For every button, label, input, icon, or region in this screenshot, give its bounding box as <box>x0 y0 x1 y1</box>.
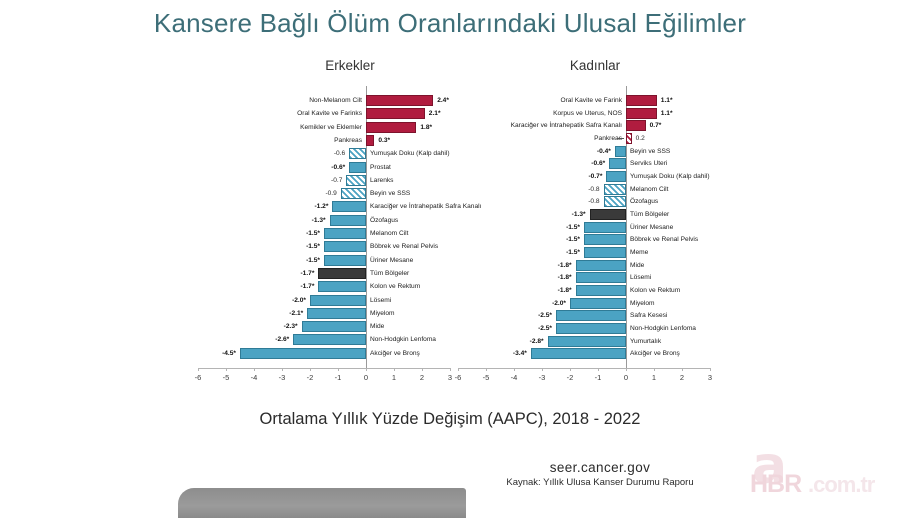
panel-header-women: Kadınlar <box>520 58 670 73</box>
bar-men-4[interactable] <box>349 148 366 159</box>
bar-row: Böbrek ve Renal Pelvis-1.5* <box>198 240 450 253</box>
bar-row: Safra Kesesi-2.5* <box>458 309 710 322</box>
bar-value-label: 0.7* <box>650 119 662 132</box>
bar-row: Akciğer ve Bronş-4.5* <box>198 347 450 360</box>
bar-row: Non-Hodgkin Lenfoma-2.6* <box>198 333 450 346</box>
x-tick-label: 2 <box>420 373 424 382</box>
bar-row: Miyelom-2.0* <box>458 297 710 310</box>
bar-value-label: -0.6* <box>591 157 605 170</box>
bar-row: Beyin ve SSS-0.9 <box>198 187 450 200</box>
panel-header-men: Erkekler <box>275 58 425 73</box>
bar-category-label: Karaciğer ve İntrahepatik Safra Kanalı <box>511 119 622 132</box>
bar-value-label: -0.6 <box>334 147 345 160</box>
bar-women-0[interactable] <box>626 95 657 106</box>
bar-women-6[interactable] <box>606 171 626 182</box>
x-tick <box>450 368 451 371</box>
bar-row: Karaciğer ve İntrahepatik Safra Kanalı0.… <box>458 119 710 132</box>
bar-category-label: Pankreas <box>334 134 362 147</box>
x-tick-label: 1 <box>392 373 396 382</box>
bar-value-label: -2.0* <box>552 297 566 310</box>
bar-value-label: -2.3* <box>284 320 298 333</box>
bar-value-label: -1.5* <box>306 254 320 267</box>
bar-category-label: Özofagus <box>630 195 658 208</box>
bar-value-label: -1.3* <box>572 208 586 221</box>
watermark-logo: a HBR .com.tr <box>748 444 898 502</box>
x-tick-label: 3 <box>448 373 452 382</box>
bar-value-label: 0.2 <box>636 132 645 145</box>
x-tick <box>226 368 227 371</box>
bar-row: Tüm Bölgeler-1.7* <box>198 267 450 280</box>
bar-row: Serviks Uteri-0.6* <box>458 157 710 170</box>
x-tick <box>682 368 683 371</box>
bar-women-12[interactable] <box>584 247 626 258</box>
bar-row: Yumurtalık-2.8* <box>458 335 710 348</box>
bar-value-label: -2.5* <box>538 322 552 335</box>
bar-category-label: Prostat <box>370 161 391 174</box>
bar-women-3[interactable] <box>626 133 632 144</box>
bar-value-label: -3.4* <box>513 347 527 360</box>
bar-category-label: Beyin ve SSS <box>630 145 670 158</box>
bar-row: Prostat-0.6* <box>198 161 450 174</box>
x-tick-label: -3 <box>279 373 286 382</box>
chart-panel-men: Non-Melanom Cilt2.4*Oral Kavite ve Farin… <box>198 86 450 382</box>
bar-row: Karaciğer ve İntrahepatik Safra Kanalı-1… <box>198 200 450 213</box>
bar-men-11[interactable] <box>324 241 366 252</box>
bar-men-15[interactable] <box>310 295 366 306</box>
x-tick <box>654 368 655 371</box>
bar-row: Pankreas0.2 <box>458 132 710 145</box>
bar-row: Melanom Cilt-1.5* <box>198 227 450 240</box>
bar-row: Meme-1.5* <box>458 246 710 259</box>
bar-category-label: Oral Kavite ve Farink <box>560 94 622 107</box>
bar-women-20[interactable] <box>531 348 626 359</box>
bar-men-2[interactable] <box>366 122 416 133</box>
bar-women-5[interactable] <box>609 158 626 169</box>
x-tick-label: -5 <box>223 373 230 382</box>
bar-men-3[interactable] <box>366 135 374 146</box>
bar-category-label: Üriner Mesane <box>370 254 413 267</box>
bar-row: Oral Kavite ve Farink1.1* <box>458 94 710 107</box>
bar-category-label: Böbrek ve Renal Pelvis <box>370 240 438 253</box>
x-tick <box>710 368 711 371</box>
page-title: Kansere Bağlı Ölüm Oranlarındaki Ulusal … <box>0 8 900 39</box>
bar-women-14[interactable] <box>576 272 626 283</box>
bar-row: Üriner Mesane-1.5* <box>198 254 450 267</box>
bar-value-label: -1.8* <box>558 271 572 284</box>
axis-title: Ortalama Yıllık Yüzde Değişim (AAPC), 20… <box>0 410 900 429</box>
bar-category-label: Yumuşak Doku (Kalp dahil) <box>370 147 450 160</box>
bar-row: Özofagus-0.8 <box>458 195 710 208</box>
x-tick <box>282 368 283 371</box>
bar-row: Korpus ve Uterus, NOS1.1* <box>458 107 710 120</box>
bar-women-7[interactable] <box>604 184 626 195</box>
x-tick-label: -1 <box>595 373 602 382</box>
bar-value-label: -0.6* <box>331 161 345 174</box>
slide-canvas: Kansere Bağlı Ölüm Oranlarındaki Ulusal … <box>0 0 900 506</box>
bar-value-label: -2.1* <box>289 307 303 320</box>
bar-row: Yumuşak Doku (Kalp dahil)-0.7* <box>458 170 710 183</box>
bar-row: Non-Hodgkin Lenfoma-2.5* <box>458 322 710 335</box>
bar-value-label: -0.7* <box>588 170 602 183</box>
bar-row: Mide-2.3* <box>198 320 450 333</box>
source-credit: Kaynak: Yıllık Ulusa Kanser Durumu Rapor… <box>430 477 770 488</box>
bar-category-label: Akciğer ve Bronş <box>630 347 680 360</box>
bar-category-label: Akciğer ve Bronş <box>370 347 420 360</box>
x-tick-label: -5 <box>483 373 490 382</box>
source-site: seer.cancer.gov <box>430 460 770 475</box>
bar-row: Oral Kavite ve Farinks2.1* <box>198 107 450 120</box>
bar-category-label: Lösemi <box>370 294 391 307</box>
bar-category-label: Tüm Bölgeler <box>630 208 669 221</box>
bar-category-label: Serviks Uteri <box>630 157 667 170</box>
bar-value-label: -2.8* <box>530 335 544 348</box>
bar-men-7[interactable] <box>341 188 366 199</box>
bar-men-8[interactable] <box>332 201 366 212</box>
bar-value-label: -1.7* <box>300 267 314 280</box>
bar-category-label: Melanom Cilt <box>630 183 668 196</box>
x-tick <box>310 368 311 371</box>
bar-value-label: -4.5* <box>222 347 236 360</box>
x-tick <box>198 368 199 371</box>
bar-category-label: Mide <box>370 320 384 333</box>
bar-value-label: 1.1* <box>661 94 673 107</box>
x-tick-label: 2 <box>680 373 684 382</box>
bar-row: Mide-1.8* <box>458 259 710 272</box>
bar-women-2[interactable] <box>626 120 646 131</box>
bar-category-label: Tüm Bölgeler <box>370 267 409 280</box>
x-tick-label: -3 <box>539 373 546 382</box>
x-tick-label: -4 <box>511 373 518 382</box>
x-tick <box>366 368 367 371</box>
x-tick-label: 0 <box>624 373 628 382</box>
bar-row: Böbrek ve Renal Pelvis-1.5* <box>458 233 710 246</box>
bar-row: Beyin ve SSS-0.4* <box>458 145 710 158</box>
x-tick <box>570 368 571 371</box>
bar-category-label: Non-Hodgkin Lenfoma <box>630 322 696 335</box>
bar-category-label: Yumurtalık <box>630 335 661 348</box>
bar-row: Kolon ve Rektum-1.7* <box>198 280 450 293</box>
x-tick-label: 0 <box>364 373 368 382</box>
bar-men-13[interactable] <box>318 268 366 279</box>
x-tick <box>514 368 515 371</box>
bar-women-1[interactable] <box>626 108 657 119</box>
bar-category-label: Melanom Cilt <box>370 227 408 240</box>
bar-category-label: Meme <box>630 246 648 259</box>
bar-women-18[interactable] <box>556 323 626 334</box>
bar-row: Üriner Mesane-1.5* <box>458 221 710 234</box>
watermark-domain: .com.tr <box>808 474 874 496</box>
bar-category-label: Kolon ve Rektum <box>370 280 420 293</box>
bar-row: Özofagus-1.3* <box>198 214 450 227</box>
bar-category-label: Lösemi <box>630 271 651 284</box>
bar-row: Lösemi-1.8* <box>458 271 710 284</box>
x-tick <box>598 368 599 371</box>
x-tick-label: -1 <box>335 373 342 382</box>
bar-value-label: -2.6* <box>275 333 289 346</box>
bar-value-label: -1.5* <box>566 221 580 234</box>
bar-value-label: -1.8* <box>558 284 572 297</box>
bar-category-label: Yumuşak Doku (Kalp dahil) <box>630 170 710 183</box>
bar-value-label: 2.1* <box>429 107 441 120</box>
bar-men-16[interactable] <box>307 308 366 319</box>
x-tick <box>338 368 339 371</box>
bar-category-label: Üriner Mesane <box>630 221 673 234</box>
x-tick <box>458 368 459 371</box>
bar-category-label: Larenks <box>370 174 393 187</box>
chart-panel-women: Oral Kavite ve Farink1.1*Korpus ve Uteru… <box>458 86 710 382</box>
x-tick <box>394 368 395 371</box>
bar-value-label: -2.0* <box>292 294 306 307</box>
bar-row: Yumuşak Doku (Kalp dahil)-0.6 <box>198 147 450 160</box>
bar-value-label: -0.7 <box>331 174 342 187</box>
bar-value-label: 2.4* <box>437 94 449 107</box>
bar-category-label: Non-Melanom Cilt <box>309 94 362 107</box>
bar-row: Miyelom-2.1* <box>198 307 450 320</box>
bar-category-label: Miyelom <box>370 307 395 320</box>
x-tick <box>542 368 543 371</box>
bar-category-label: Korpus ve Uterus, NOS <box>553 107 622 120</box>
bar-row: Pankreas0.3* <box>198 134 450 147</box>
bar-category-label: Özofagus <box>370 214 398 227</box>
bar-category-label: Kemikler ve Eklemler <box>300 121 362 134</box>
bar-row: Akciğer ve Bronş-3.4* <box>458 347 710 360</box>
bar-men-17[interactable] <box>302 321 366 332</box>
bar-row: Kemikler ve Eklemler1.8* <box>198 121 450 134</box>
bar-category-label: Safra Kesesi <box>630 309 667 322</box>
bar-value-label: -0.9 <box>325 187 336 200</box>
bar-value-label: -0.4* <box>597 145 611 158</box>
bar-value-label: -1.2* <box>314 200 328 213</box>
bar-value-label: 1.1* <box>661 107 673 120</box>
x-tick-label: 3 <box>708 373 712 382</box>
bar-category-label: Oral Kavite ve Farinks <box>297 107 362 120</box>
x-tick-label: -2 <box>567 373 574 382</box>
x-tick-label: -4 <box>251 373 258 382</box>
bar-category-label: Miyelom <box>630 297 655 310</box>
bar-value-label: -1.8* <box>558 259 572 272</box>
bar-category-label: Böbrek ve Renal Pelvis <box>630 233 698 246</box>
bar-men-0[interactable] <box>366 95 433 106</box>
bar-row: Non-Melanom Cilt2.4* <box>198 94 450 107</box>
x-tick-label: -6 <box>455 373 462 382</box>
bar-value-label: -0.8 <box>588 195 599 208</box>
bar-women-8[interactable] <box>604 196 626 207</box>
bar-value-label: -1.7* <box>300 280 314 293</box>
bar-category-label: Non-Hodgkin Lenfoma <box>370 333 436 346</box>
bar-women-4[interactable] <box>615 146 626 157</box>
bar-men-14[interactable] <box>318 281 366 292</box>
bar-women-17[interactable] <box>556 310 626 321</box>
bar-women-11[interactable] <box>584 234 626 245</box>
x-tick <box>626 368 627 371</box>
bar-value-label: -1.5* <box>306 240 320 253</box>
bar-value-label: -2.5* <box>538 309 552 322</box>
plot-area-men: Non-Melanom Cilt2.4*Oral Kavite ve Farin… <box>198 86 450 368</box>
bar-women-19[interactable] <box>548 336 626 347</box>
x-tick-label: -2 <box>307 373 314 382</box>
bar-men-1[interactable] <box>366 108 425 119</box>
x-axis-women: -6-5-4-3-2-10123 <box>458 368 710 390</box>
bar-men-18[interactable] <box>293 334 366 345</box>
bar-women-10[interactable] <box>584 222 626 233</box>
plot-area-women: Oral Kavite ve Farink1.1*Korpus ve Uteru… <box>458 86 710 368</box>
bar-value-label: -1.5* <box>306 227 320 240</box>
x-tick <box>486 368 487 371</box>
x-tick <box>422 368 423 371</box>
bar-row: Larenks-0.7 <box>198 174 450 187</box>
bar-category-label: Beyin ve SSS <box>370 187 410 200</box>
bar-men-9[interactable] <box>330 215 366 226</box>
x-axis-men: -6-5-4-3-2-10123 <box>198 368 450 390</box>
bar-women-15[interactable] <box>576 285 626 296</box>
x-tick <box>254 368 255 371</box>
bar-men-5[interactable] <box>349 162 366 173</box>
bar-men-10[interactable] <box>324 228 366 239</box>
source-block: seer.cancer.gov Kaynak: Yıllık Ulusa Kan… <box>430 460 770 488</box>
bar-women-16[interactable] <box>570 298 626 309</box>
bar-row: Lösemi-2.0* <box>198 294 450 307</box>
bar-women-13[interactable] <box>576 260 626 271</box>
bar-row: Tüm Bölgeler-1.3* <box>458 208 710 221</box>
bar-category-label: Mide <box>630 259 644 272</box>
bar-women-9[interactable] <box>590 209 626 220</box>
bar-row: Kolon ve Rektum-1.8* <box>458 284 710 297</box>
bar-value-label: 0.3* <box>378 134 390 147</box>
bar-value-label: -0.8 <box>588 183 599 196</box>
x-tick-label: 1 <box>652 373 656 382</box>
leader-dash <box>617 138 624 139</box>
bar-men-6[interactable] <box>346 175 366 186</box>
bar-row: Melanom Cilt-0.8 <box>458 183 710 196</box>
bar-value-label: -1.3* <box>312 214 326 227</box>
bar-value-label: 1.8* <box>420 121 432 134</box>
foreground-object <box>178 488 466 518</box>
bar-value-label: -1.5* <box>566 233 580 246</box>
bar-men-19[interactable] <box>240 348 366 359</box>
bar-value-label: -1.5* <box>566 246 580 259</box>
watermark-brand: HBR <box>750 472 801 497</box>
bar-men-12[interactable] <box>324 255 366 266</box>
x-tick-label: -6 <box>195 373 202 382</box>
bar-category-label: Kolon ve Rektum <box>630 284 680 297</box>
